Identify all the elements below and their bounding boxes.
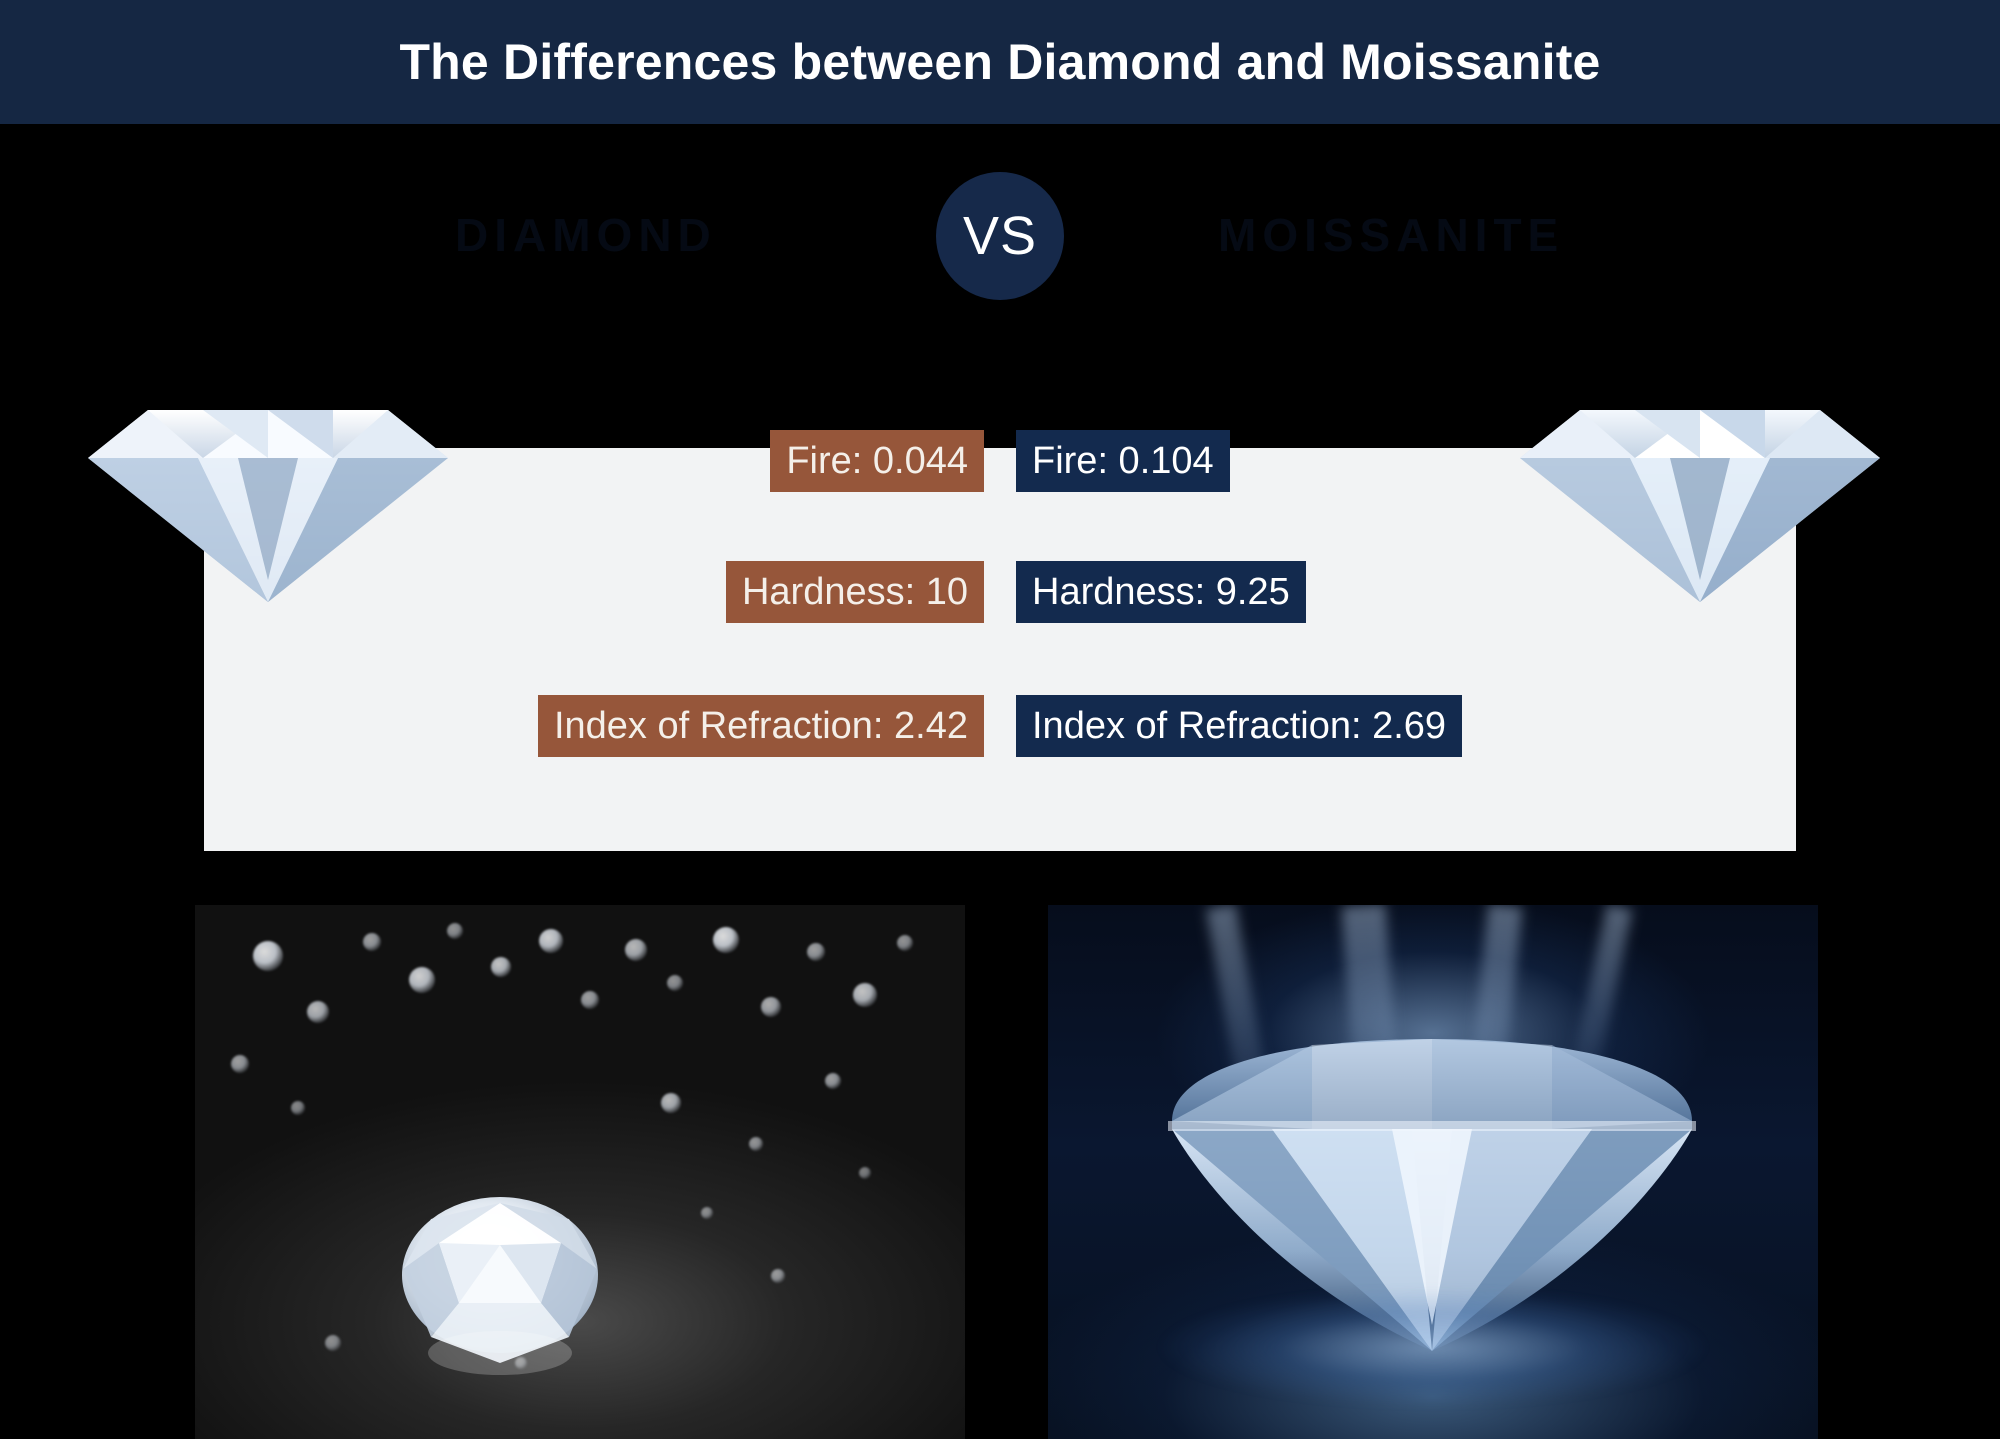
badge-diamond-fire: Fire: 0.044	[770, 430, 984, 492]
right-column-caption: MOISSANITE	[1218, 208, 1564, 262]
header-band: The Differences between Diamond and Mois…	[0, 0, 2000, 124]
spec-row-fire: Fire: 0.044 Fire: 0.104	[204, 430, 1796, 492]
page-title: The Differences between Diamond and Mois…	[399, 33, 1600, 91]
spec-col-diamond: Index of Refraction: 2.42	[204, 695, 1000, 757]
spec-col-moissanite: Hardness: 9.25	[1000, 561, 1796, 623]
vs-badge: VS	[936, 172, 1064, 300]
vs-badge-label: VS	[963, 209, 1037, 263]
spec-row-hardness: Hardness: 10 Hardness: 9.25	[204, 561, 1796, 623]
moissanite-photo	[1048, 905, 1818, 1439]
spec-col-diamond: Hardness: 10	[204, 561, 1000, 623]
badge-moissanite-fire: Fire: 0.104	[1016, 430, 1230, 492]
spec-row-index-of-refraction: Index of Refraction: 2.42 Index of Refra…	[204, 695, 1796, 757]
badge-diamond-index-of-refraction: Index of Refraction: 2.42	[538, 695, 984, 757]
vs-row: DIAMOND VS MOISSANITE	[0, 172, 2000, 300]
round-brilliant-diamond	[391, 1183, 609, 1389]
spec-col-moissanite: Fire: 0.104	[1000, 430, 1796, 492]
badge-moissanite-index-of-refraction: Index of Refraction: 2.69	[1016, 695, 1462, 757]
diamond-photo	[195, 905, 965, 1439]
left-column-caption: DIAMOND	[455, 208, 717, 262]
badge-diamond-hardness: Hardness: 10	[726, 561, 984, 623]
infographic-root: The Differences between Diamond and Mois…	[0, 0, 2000, 1439]
badge-moissanite-hardness: Hardness: 9.25	[1016, 561, 1306, 623]
spec-col-diamond: Fire: 0.044	[204, 430, 1000, 492]
spec-col-moissanite: Index of Refraction: 2.69	[1000, 695, 1796, 757]
